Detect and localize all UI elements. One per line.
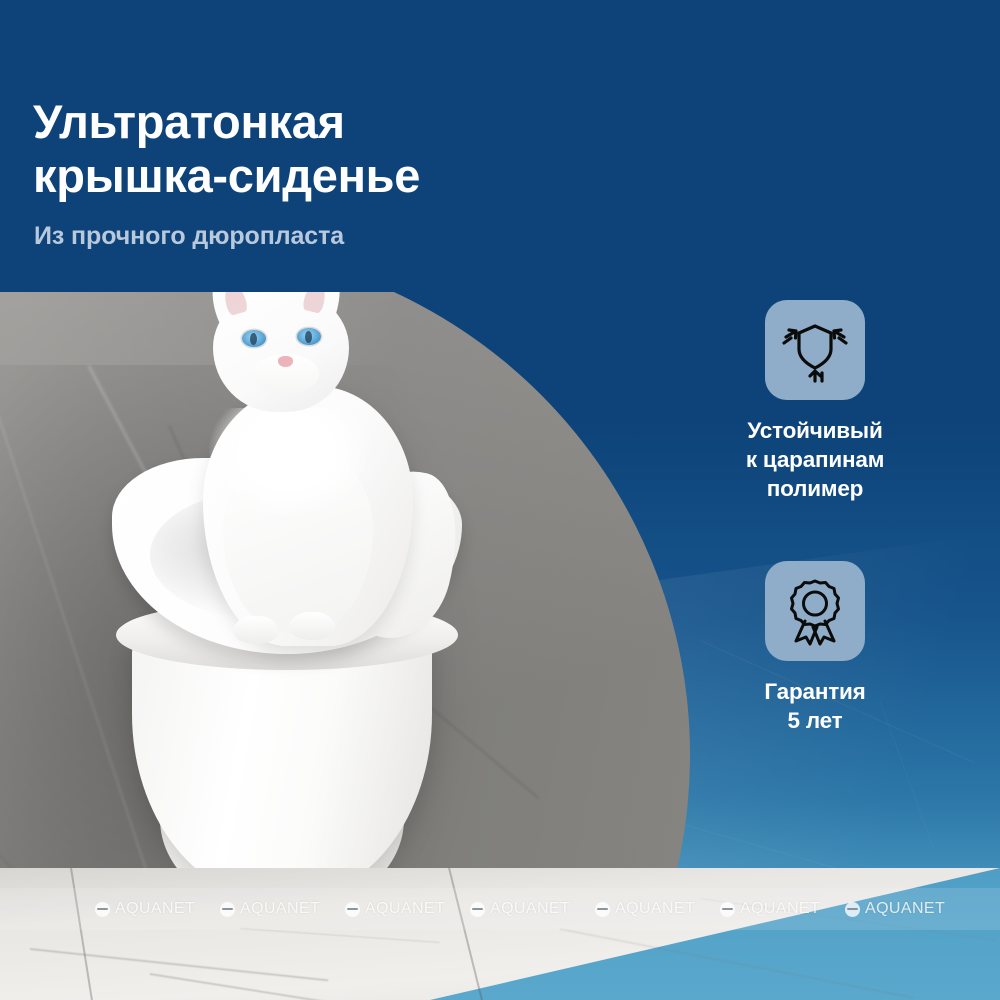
cat-paw <box>289 612 335 640</box>
watermark-item: AQUANET <box>345 900 470 918</box>
cat-illustration <box>185 268 445 668</box>
watermark-label: AQUANET <box>740 900 820 918</box>
cat-paw <box>233 616 279 644</box>
feature-label-line1: Гарантия <box>690 677 940 706</box>
shield-scratch-resistant-icon <box>765 300 865 400</box>
watermark-item: AQUANET <box>95 900 220 918</box>
cat-nose <box>278 356 293 367</box>
feature-label-line3: полимер <box>690 474 940 503</box>
feature-scratch-resistant: Устойчивый к царапинам полимер <box>690 300 940 503</box>
page-subtitle: Из прочного дюропласта <box>34 222 344 251</box>
watermark-strip: AQUANET AQUANET AQUANET AQUANET AQUANET … <box>0 888 1000 930</box>
feature-label-line1: Устойчивый <box>690 416 940 445</box>
watermark-item: AQUANET <box>720 900 845 918</box>
header-band: Ультратонкая крышка-сиденье Из прочного … <box>0 0 1000 292</box>
product-banner: AQUANET AQUANET AQUANET AQUANET AQUANET … <box>0 0 1000 1000</box>
watermark-label: AQUANET <box>240 900 320 918</box>
aquanet-logo-icon <box>595 902 610 917</box>
aquanet-logo-icon <box>845 902 860 917</box>
page-title-line1: Ультратонкая <box>33 95 345 148</box>
aquanet-logo-icon <box>470 902 485 917</box>
feature-label: Устойчивый к царапинам полимер <box>690 416 940 503</box>
watermark-item: AQUANET <box>220 900 345 918</box>
aquanet-logo-icon <box>220 902 235 917</box>
watermark-label: AQUANET <box>490 900 570 918</box>
cat-eye <box>297 328 321 345</box>
feature-label-line2: к царапинам <box>690 445 940 474</box>
page-title: Ультратонкая крышка-сиденье <box>33 95 653 203</box>
watermark-label: AQUANET <box>615 900 695 918</box>
cat-eye <box>242 330 266 347</box>
watermark-item: AQUANET <box>595 900 720 918</box>
watermark-label: AQUANET <box>115 900 195 918</box>
aquanet-logo-icon <box>95 902 110 917</box>
aquanet-logo-icon <box>720 902 735 917</box>
watermark-item: AQUANET <box>845 900 970 918</box>
watermark-label: AQUANET <box>865 900 945 918</box>
watermark-label: AQUANET <box>365 900 445 918</box>
page-title-line2: крышка-сиденье <box>33 149 653 203</box>
award-medal-icon <box>765 561 865 661</box>
feature-label-line2: 5 лет <box>690 706 940 735</box>
watermark-item: AQUANET <box>470 900 595 918</box>
feature-warranty: Гарантия 5 лет <box>690 561 940 735</box>
aquanet-logo-icon <box>345 902 360 917</box>
feature-list: Устойчивый к царапинам полимер Гарантия … <box>690 300 940 735</box>
feature-label: Гарантия 5 лет <box>690 677 940 735</box>
